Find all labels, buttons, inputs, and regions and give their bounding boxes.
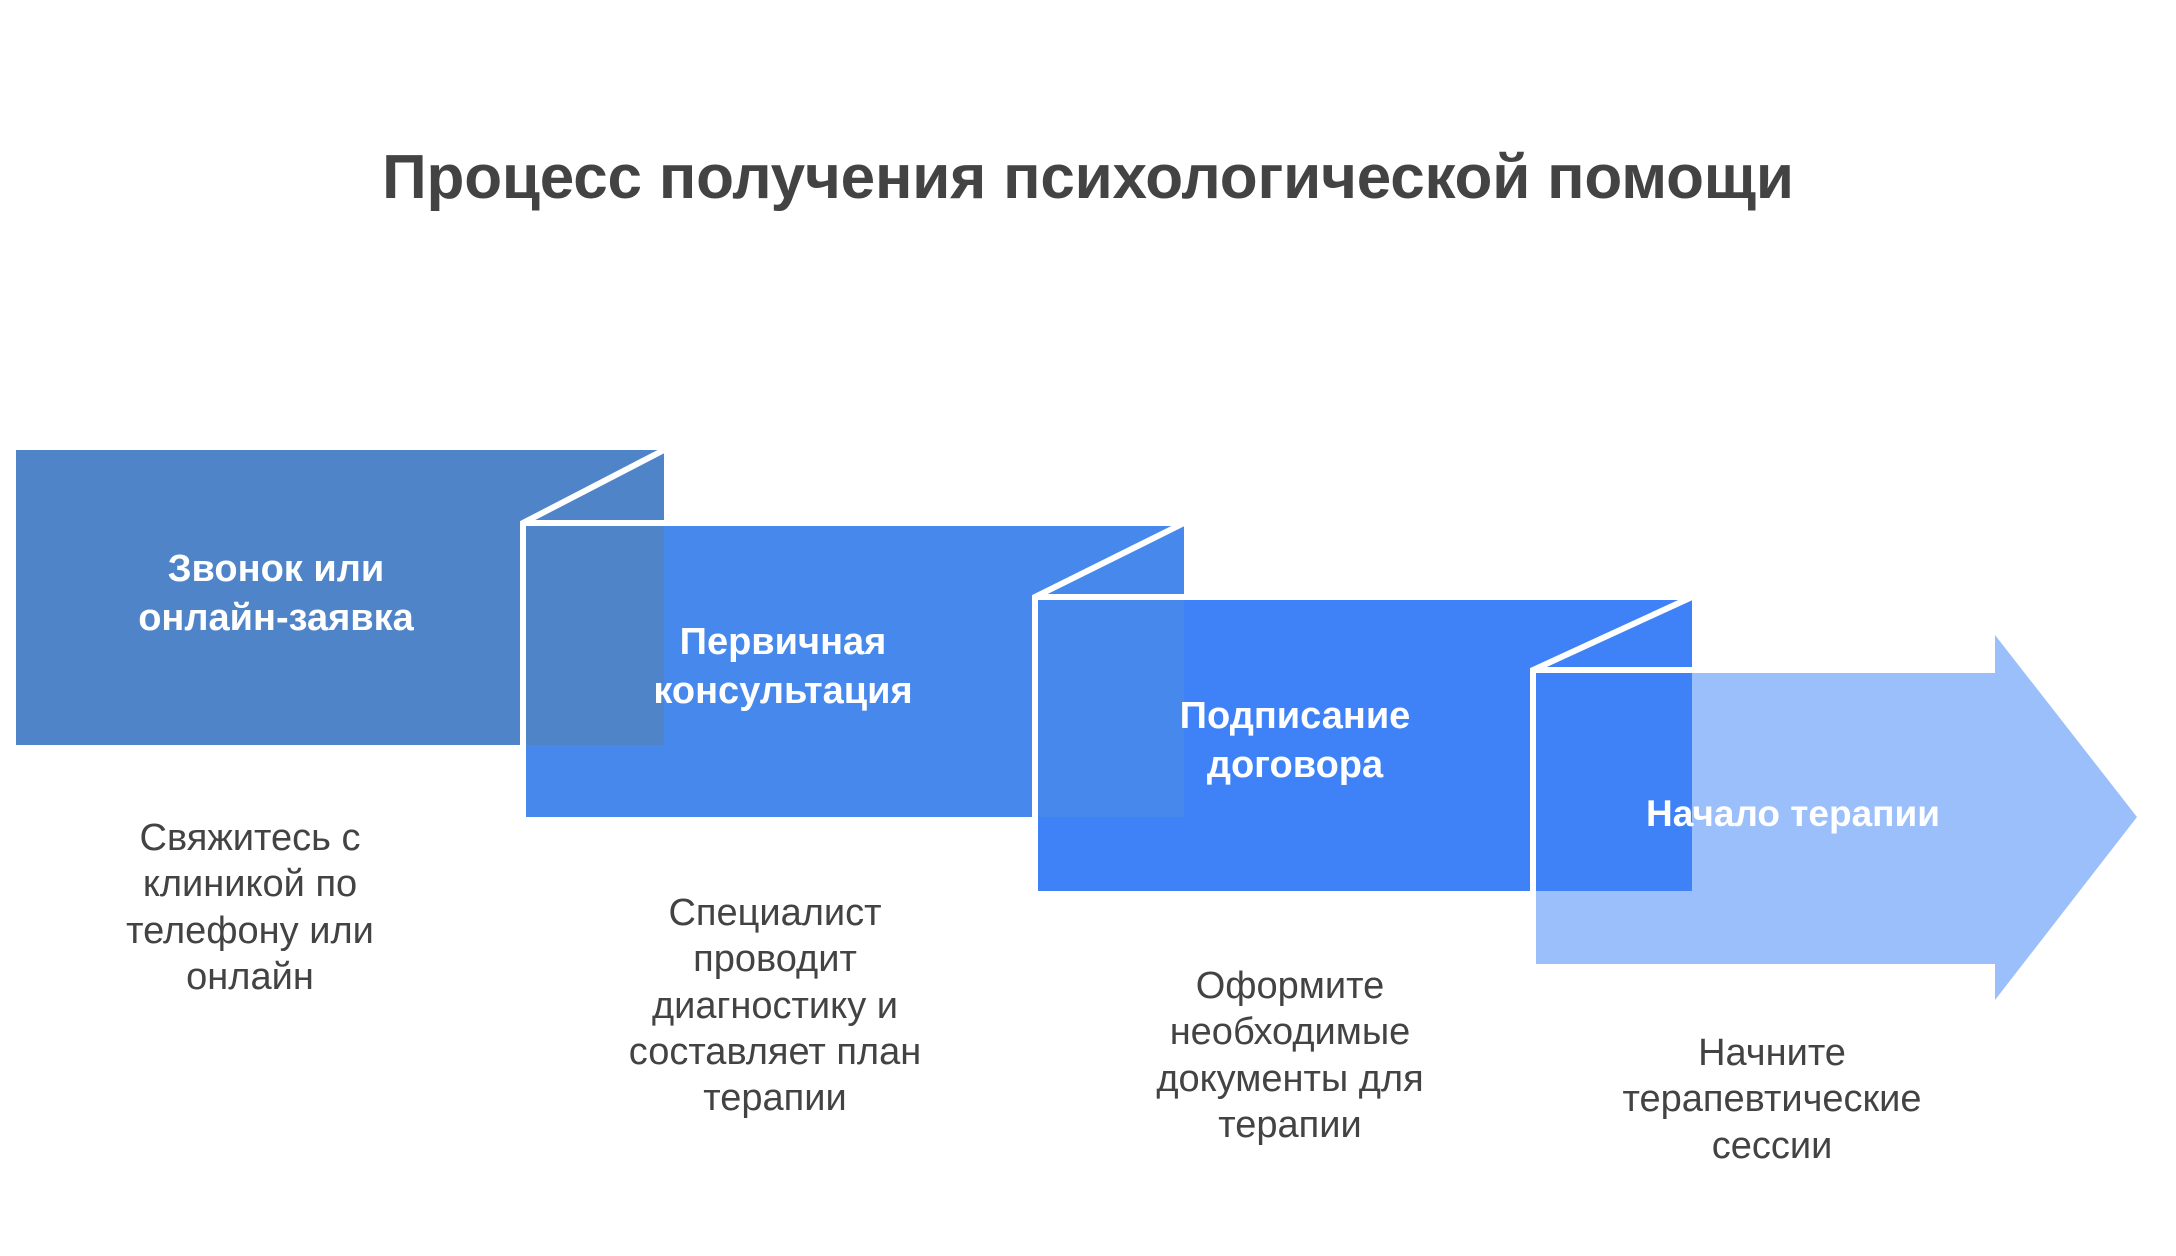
process-diagram: Звонок или онлайн-заявка Первичная консу… [0,0,2176,1256]
step-1-caption: Свяжитесь с клиникой по телефону или онл… [60,815,440,1000]
slide-canvas: Процесс получения психологической помощи [0,0,2176,1256]
step-2-caption: Специалист проводит диагностику и состав… [560,890,990,1122]
step-1-shape[interactable] [16,450,664,745]
step-4-caption: Начните терапевтические сессии [1552,1030,1992,1169]
step-3-caption: Оформите необходимые документы для терап… [1080,963,1500,1148]
